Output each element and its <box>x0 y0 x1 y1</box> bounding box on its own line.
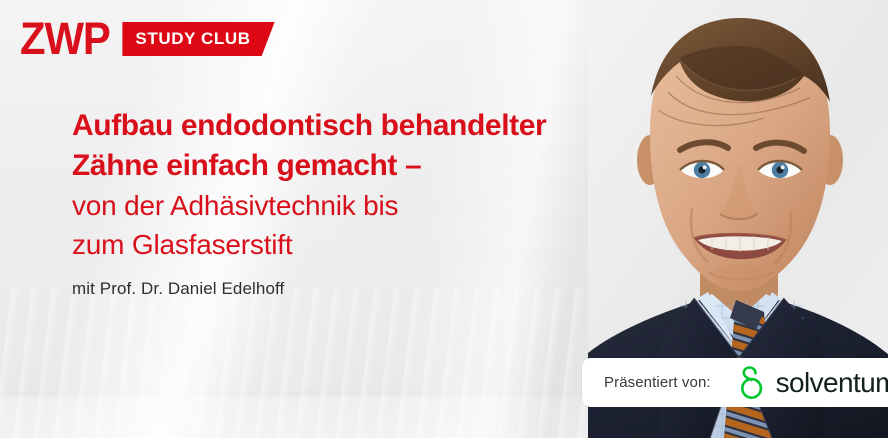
solventum-knot-icon <box>737 366 767 400</box>
speaker-byline: mit Prof. Dr. Daniel Edelhoff <box>72 278 602 300</box>
zwp-study-club-banner: ZWP STUDY CLUB Aufbau endodontisch behan… <box>0 0 888 438</box>
subheadline-line-2: zum Glasfaserstift <box>72 225 602 264</box>
solventum-wordmark: solventum <box>776 368 888 398</box>
sponsor-label: Präsentiert von: <box>604 374 711 391</box>
study-club-tag-label: STUDY CLUB <box>122 22 274 56</box>
headline-block: Aufbau endodontisch behandelter Zähne ei… <box>72 106 602 300</box>
sponsor-badge[interactable]: Präsentiert von: solventum <box>582 358 888 407</box>
zwp-wordmark: ZWP <box>20 17 110 61</box>
headline-line-2: Zähne einfach gemacht – <box>72 146 602 186</box>
study-club-tag: STUDY CLUB <box>122 22 274 56</box>
solventum-logo: solventum <box>737 366 888 400</box>
headline-line-1: Aufbau endodontisch behandelter <box>72 106 602 146</box>
subheadline-line-1: von der Adhäsivtechnik bis <box>72 186 602 225</box>
zwp-logo[interactable]: ZWP STUDY CLUB <box>20 17 275 61</box>
